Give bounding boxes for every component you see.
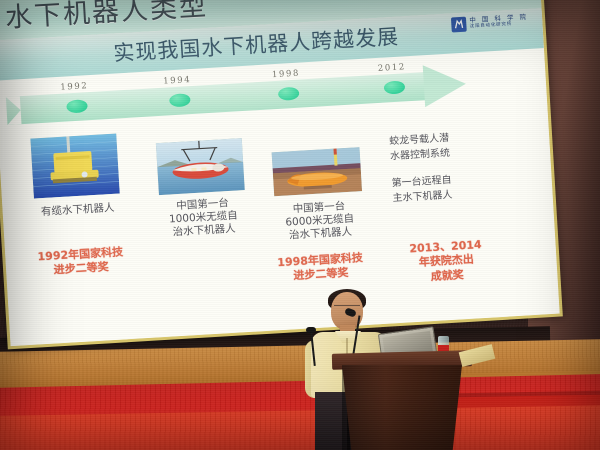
screen-surface: 水下机器人类型 实现我国水下机器人跨越发展 中 国 科 学 院 沈阳自动化研究所 <box>0 0 560 346</box>
podium-shadow <box>342 365 386 450</box>
current-slide: 实现我国水下机器人跨越发展 中 国 科 学 院 沈阳自动化研究所 <box>0 8 560 346</box>
presentation-photo-scene: 水下机器人类型 实现我国水下机器人跨越发展 中 国 科 学 院 沈阳自动化研究所 <box>0 0 600 450</box>
academy-emblem-icon <box>451 17 467 33</box>
projection-screen: 水下机器人类型 实现我国水下机器人跨越发展 中 国 科 学 院 沈阳自动化研究所 <box>0 0 563 349</box>
photo-tethered-underwater-robot <box>30 134 119 199</box>
logo-text: 中 国 科 学 院 沈阳自动化研究所 <box>469 14 528 30</box>
caption-item-4a: 蛟龙号载人潜 水器控制系统 <box>389 129 499 164</box>
timeline-year-2012: 2012 <box>378 62 407 74</box>
arrow-tail-notch <box>6 96 22 125</box>
podium <box>338 352 466 450</box>
photo-6000m-auv-on-deck <box>272 147 362 196</box>
timeline-year-1998: 1998 <box>272 69 301 81</box>
award-item-1: 1992年国家科技 进步二等奖 <box>19 244 142 280</box>
timeline-year-1994: 1994 <box>163 75 192 87</box>
caption-item-4b: 第一台远程自 主水下机器人 <box>391 171 501 206</box>
microphone-head-left <box>306 327 316 333</box>
arrow-shaft <box>6 72 427 125</box>
caption-item-3: 中国第一台 6000米无缆自 治水下机器人 <box>261 198 379 244</box>
caption-item-2: 中国第一台 1000米无缆自 治水下机器人 <box>144 195 262 241</box>
award-item-3: 1998年国家科技 进步二等奖 <box>256 250 385 286</box>
timeline-year-1992: 1992 <box>60 81 89 93</box>
caption-item-1: 有缆水下机器人 <box>18 200 137 220</box>
arrow-head <box>423 63 467 107</box>
award-item-4: 2013、2014 年获院杰出 成就奖 <box>387 237 505 287</box>
photo-1000m-auv-lift <box>156 138 245 195</box>
